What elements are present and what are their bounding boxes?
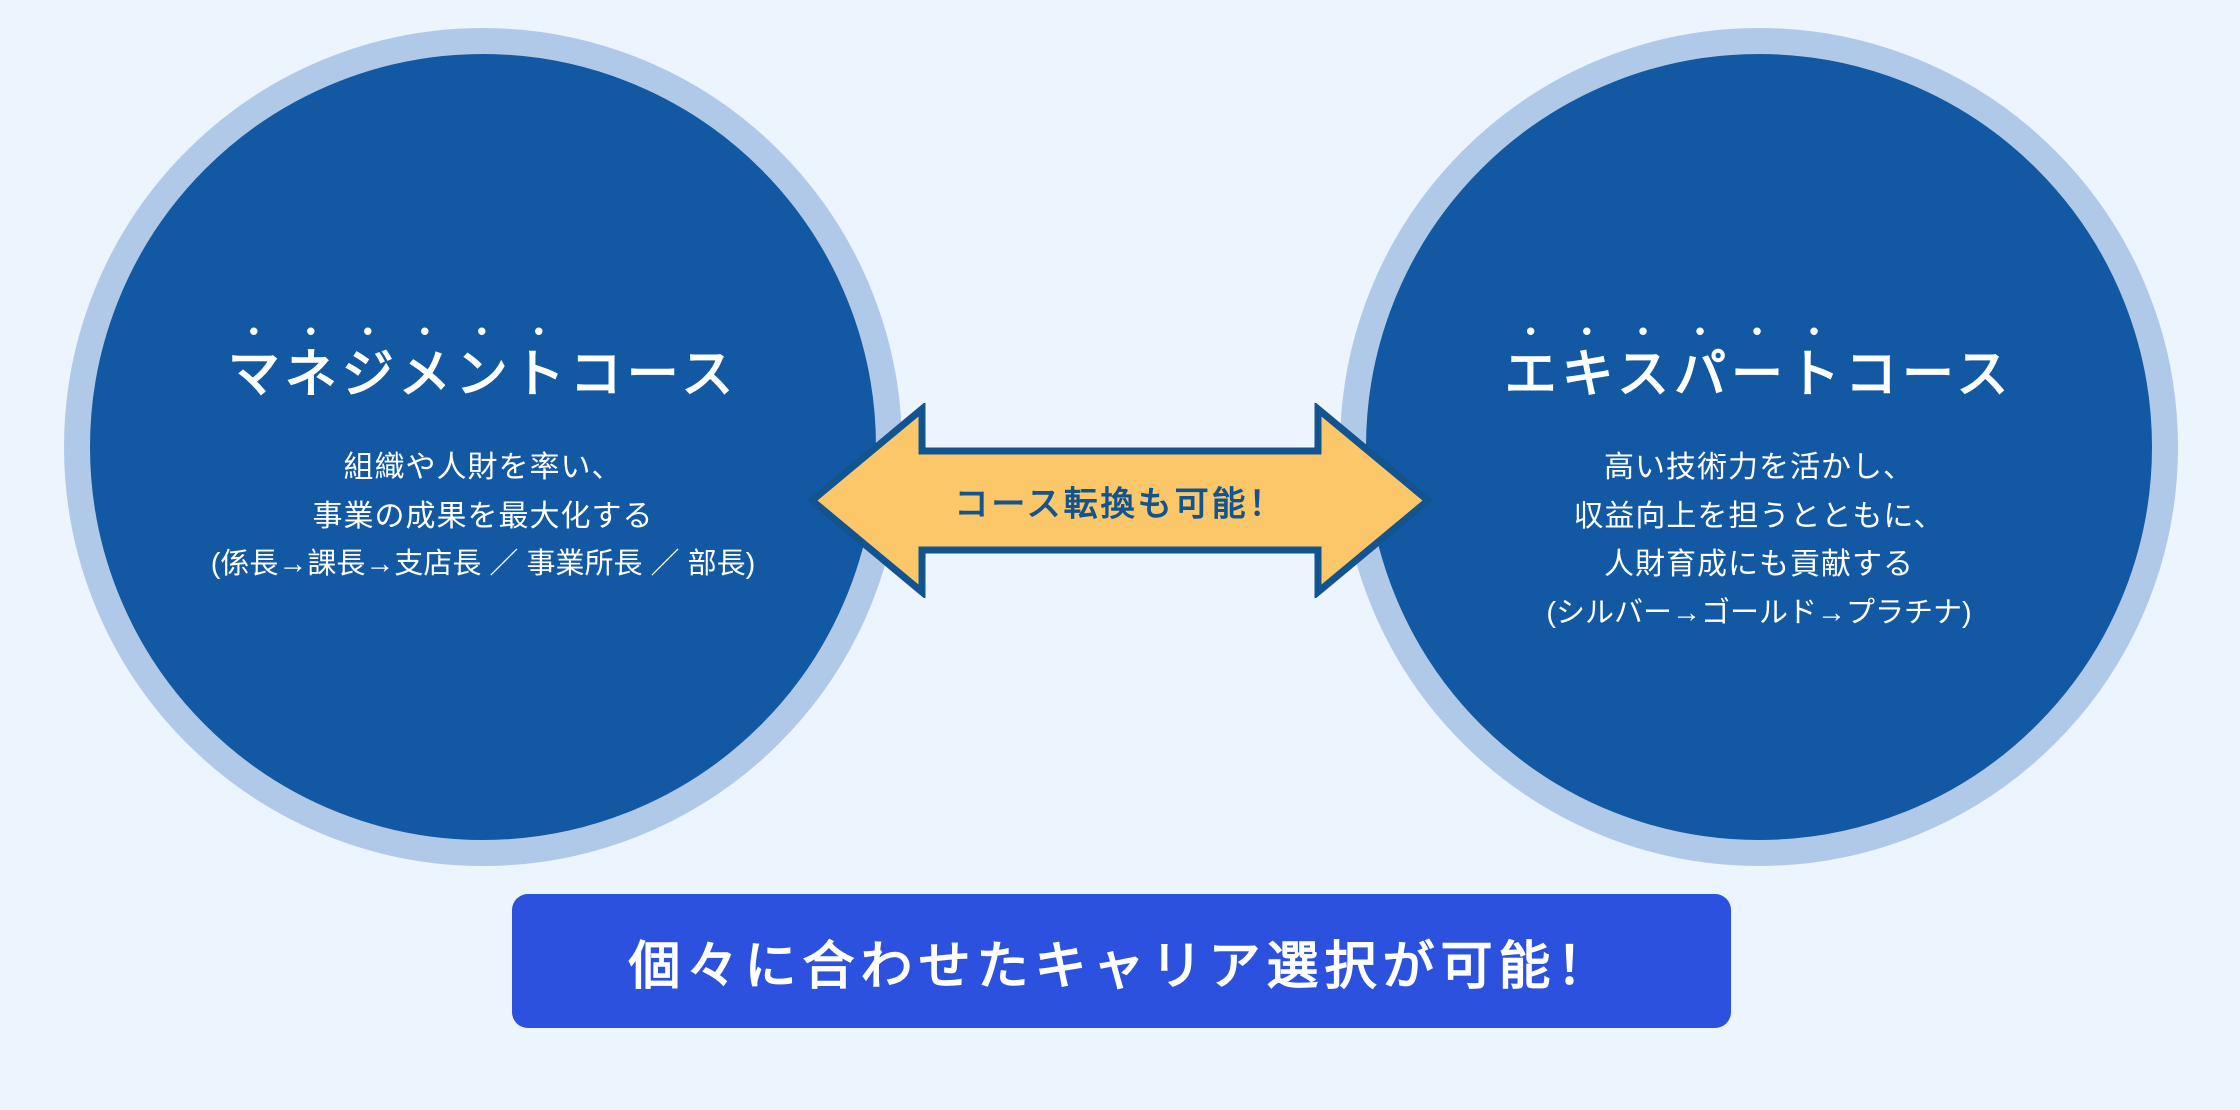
course-circle-management[interactable]: マネジメントコース 組織や人財を率い、 事業の成果を最大化する (係長→課長→支… — [64, 28, 902, 866]
double-arrow-icon — [806, 403, 1434, 598]
course-title-tail-management: コース — [570, 346, 738, 404]
course-content-expert: エキスパートコース 高い技術力を活かし、 収益向上を担うとともに、 人財育成にも… — [1366, 316, 2152, 637]
course-track-note-management: (係長→課長→支店長 ／ 事業所長 ／ 部長) — [211, 541, 756, 588]
diagram-canvas: マネジメントコース 組織や人財を率い、 事業の成果を最大化する (係長→課長→支… — [0, 0, 2240, 1110]
course-desc-line: 高い技術力を活かし、 — [1546, 444, 1971, 493]
course-track-note-expert: (シルバー→ゴールド→プラチナ) — [1546, 590, 1971, 637]
course-content-management: マネジメントコース 組織や人財を率い、 事業の成果を最大化する (係長→課長→支… — [90, 316, 876, 588]
career-selection-banner-text: 個々に合わせたキャリア選択が可能！ — [628, 924, 1614, 999]
course-title-management: マネジメントコース — [228, 316, 738, 404]
course-description-expert: 高い技術力を活かし、 収益向上を担うとともに、 人財育成にも貢献する (シルバー… — [1546, 444, 1971, 637]
course-desc-line: 組織や人財を率い、 — [211, 444, 756, 493]
course-desc-line: 収益向上を担うとともに、 — [1546, 493, 1971, 542]
course-title-expert: エキスパートコース — [1505, 316, 2014, 404]
course-title-tail-expert: コース — [1845, 346, 2013, 404]
course-desc-line: 人財育成にも貢献する — [1546, 541, 1971, 590]
course-title-emphasis-expert: エキスパート — [1505, 346, 1845, 404]
course-desc-line: 事業の成果を最大化する — [211, 493, 756, 542]
course-transfer-arrow: コース転換も可能！ — [806, 403, 1434, 598]
course-description-management: 組織や人財を率い、 事業の成果を最大化する (係長→課長→支店長 ／ 事業所長 … — [211, 444, 756, 588]
career-selection-banner[interactable]: 個々に合わせたキャリア選択が可能！ — [512, 894, 1731, 1028]
course-title-emphasis-management: マネジメント — [228, 346, 570, 404]
course-circle-expert[interactable]: エキスパートコース 高い技術力を活かし、 収益向上を担うとともに、 人財育成にも… — [1340, 28, 2178, 866]
